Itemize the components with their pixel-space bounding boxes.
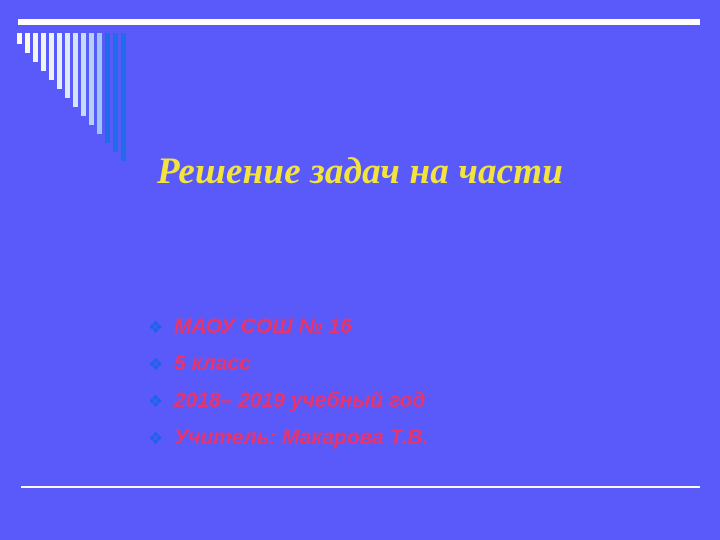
list-item-label: 2018– 2019 учебный год [174,390,668,411]
descending-bars-decoration [17,33,127,153]
decoration-bar-4 [49,33,54,80]
decoration-bar-1 [25,33,30,53]
top-divider-rule [18,19,700,25]
decoration-bar-6 [65,33,70,98]
decoration-bar-5 [57,33,62,89]
diamond-bullet-icon: ❖ [148,320,174,337]
decoration-bar-11 [105,33,110,143]
list-item-label: МАОУ СОШ № 16 [174,316,668,337]
list-item: ❖ МАОУ СОШ № 16 [148,316,668,347]
decoration-bar-3 [41,33,46,71]
diamond-bullet-icon: ❖ [148,394,174,411]
decoration-bar-12 [113,33,118,152]
bullet-list: ❖ МАОУ СОШ № 16 ❖ 5 класс ❖ 2018– 2019 у… [148,316,668,464]
decoration-bar-0 [17,33,22,44]
list-item: ❖ 2018– 2019 учебный год [148,390,668,421]
presentation-slide: Решение задач на части ❖ МАОУ СОШ № 16 ❖… [0,0,720,540]
decoration-bar-7 [73,33,78,107]
decoration-bar-2 [33,33,38,62]
list-item-label: 5 класс [174,353,668,374]
decoration-bar-9 [89,33,94,125]
list-item: ❖ Учитель: Макарова Т.В. [148,427,668,458]
bottom-divider-rule [21,486,700,488]
list-item-label: Учитель: Макарова Т.В. [174,427,668,448]
decoration-bar-8 [81,33,86,116]
diamond-bullet-icon: ❖ [148,431,174,448]
list-item: ❖ 5 класс [148,353,668,384]
diamond-bullet-icon: ❖ [148,357,174,374]
decoration-bar-10 [97,33,102,134]
decoration-bar-13 [121,33,126,161]
slide-title: Решение задач на части [60,150,660,194]
